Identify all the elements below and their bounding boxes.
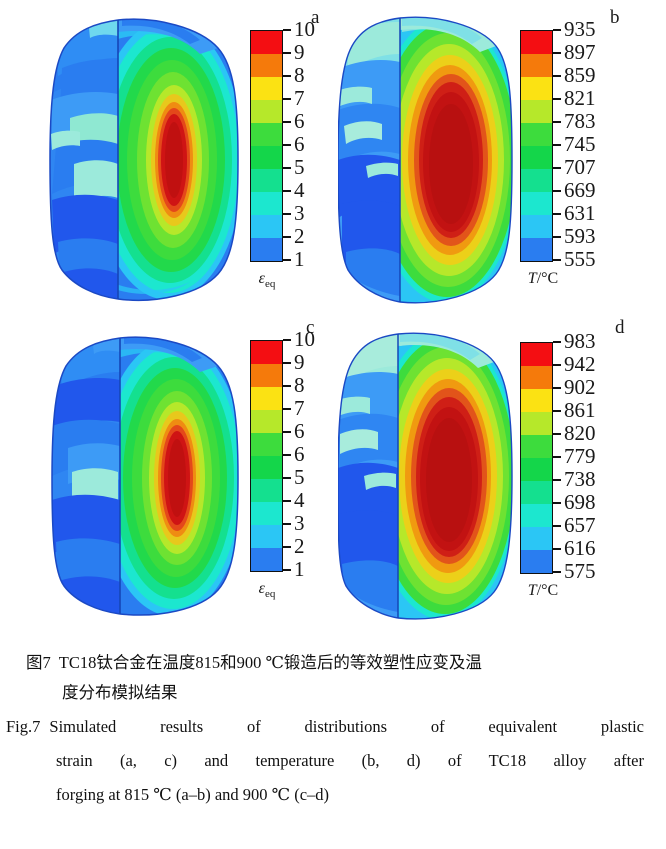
- tick-mark-icon: [283, 121, 291, 123]
- colorbar-c-tick-label-10: 1: [294, 559, 305, 580]
- tick-mark-icon: [553, 502, 561, 504]
- colorbar-a-tick-label-1: 9: [294, 42, 305, 63]
- colorbar-c-band-8: [251, 502, 282, 525]
- caption-chinese-line-1: 图7 TC18钛合金在温度815和900 ℃锻造后的等效塑性应变及温: [0, 648, 666, 678]
- tick-mark-icon: [283, 523, 291, 525]
- colorbar-d-tick-label-2: 902: [564, 377, 596, 398]
- panel-letter-c: c: [306, 318, 314, 337]
- colorbar-d-tick-label-10: 575: [564, 561, 596, 582]
- colorbar-b-band-3: [521, 77, 552, 100]
- colorbar-d-band-6: [521, 458, 552, 481]
- colorbar-b-tick-label-10: 555: [564, 249, 596, 270]
- tick-mark-icon: [283, 144, 291, 146]
- panel-a: 109876654321 εeq a: [0, 0, 330, 318]
- colorbar-b-tick-label-7: 669: [564, 180, 596, 201]
- billet-render-d: [338, 330, 513, 622]
- colorbar-b-title: T/°C: [514, 270, 572, 288]
- tick-mark-icon: [553, 364, 561, 366]
- tick-mark-icon: [283, 236, 291, 238]
- colorbar-b-band-2: [521, 54, 552, 77]
- colorbar-c-tick-label-5: 6: [294, 444, 305, 465]
- colorbar-c-band-1: [251, 341, 282, 364]
- colorbar-d-tick-label-9: 616: [564, 538, 596, 559]
- billet-render-a: [48, 14, 243, 306]
- tick-mark-icon: [283, 454, 291, 456]
- caption-chinese-line-2: 度分布模拟结果: [0, 678, 666, 708]
- caption-cn-text-1: TC18钛合金在温度815和900 ℃锻造后的等效塑性应变及温: [59, 648, 666, 678]
- tick-mark-icon: [283, 408, 291, 410]
- colorbar-d-tick-label-0: 983: [564, 331, 596, 352]
- tick-mark-icon: [553, 167, 561, 169]
- colorbar-c-tick-label-9: 2: [294, 536, 305, 557]
- colorbar-a-band-8: [251, 192, 282, 215]
- colorbar-a-band-7: [251, 169, 282, 192]
- tick-mark-icon: [283, 500, 291, 502]
- colorbar-a-tick-label-8: 3: [294, 203, 305, 224]
- tick-mark-icon: [553, 387, 561, 389]
- colorbar-a-band-9: [251, 215, 282, 238]
- tick-mark-icon: [283, 362, 291, 364]
- caption-cn-label: 图7: [26, 648, 51, 678]
- tick-mark-icon: [553, 548, 561, 550]
- figure-panel-grid: 109876654321 εeq a: [0, 0, 666, 640]
- billet-render-b: [338, 14, 513, 306]
- panel-b: 935897859821783745707669631593555 T/°C b: [330, 0, 666, 318]
- panel-c: 109876654321 εeq c: [0, 318, 330, 636]
- colorbar-b-tick-label-8: 631: [564, 203, 596, 224]
- colorbar-d-band-9: [521, 527, 552, 550]
- colorbar-d-band-8: [521, 504, 552, 527]
- tick-mark-icon: [553, 571, 561, 573]
- tick-mark-icon: [553, 29, 561, 31]
- tick-mark-icon: [283, 213, 291, 215]
- panel-letter-a: a: [311, 8, 319, 27]
- caption-en-text-1: Simulated results of distributions of eq…: [49, 712, 644, 742]
- colorbar-d-band-10: [521, 550, 552, 573]
- colorbar-b-tick-label-2: 859: [564, 65, 596, 86]
- tick-mark-icon: [283, 546, 291, 548]
- tick-mark-icon: [553, 75, 561, 77]
- tick-mark-icon: [283, 52, 291, 54]
- colorbar-c-tick-label-4: 6: [294, 421, 305, 442]
- colorbar-a-band-3: [251, 77, 282, 100]
- tick-mark-icon: [553, 236, 561, 238]
- tick-mark-icon: [553, 121, 561, 123]
- tick-mark-icon: [553, 479, 561, 481]
- tick-mark-icon: [553, 525, 561, 527]
- colorbar-c-tick-label-2: 8: [294, 375, 305, 396]
- billet-render-c: [48, 330, 243, 622]
- caption-en-text-2: strain (a, c) and temperature (b, d) of …: [56, 746, 644, 776]
- colorbar-c-tick-label-3: 7: [294, 398, 305, 419]
- colorbar-b-tick-label-0: 935: [564, 19, 596, 40]
- panel-d: 983942902861820779738698657616575 T/°C d: [330, 318, 666, 636]
- caption-cn-text-2: 度分布模拟结果: [62, 678, 666, 708]
- colorbar-c-band-6: [251, 456, 282, 479]
- colorbar-b-tick-label-5: 745: [564, 134, 596, 155]
- colorbar-a-tick-label-5: 6: [294, 134, 305, 155]
- tick-mark-icon: [283, 431, 291, 433]
- colorbar-c-tick-label-7: 4: [294, 490, 305, 511]
- colorbar-c-tick-label-8: 3: [294, 513, 305, 534]
- colorbar-b-tick-label-3: 821: [564, 88, 596, 109]
- tick-mark-icon: [553, 213, 561, 215]
- tick-mark-icon: [283, 477, 291, 479]
- colorbar-a-tick-label-2: 8: [294, 65, 305, 86]
- tick-mark-icon: [283, 75, 291, 77]
- colorbar-a-band-6: [251, 146, 282, 169]
- tick-mark-icon: [283, 259, 291, 261]
- colorbar-d-tick-label-5: 779: [564, 446, 596, 467]
- tick-mark-icon: [283, 167, 291, 169]
- colorbar-b-tick-label-1: 897: [564, 42, 596, 63]
- colorbar-d-band-4: [521, 412, 552, 435]
- colorbar-a-band-4: [251, 100, 282, 123]
- tick-mark-icon: [553, 410, 561, 412]
- colorbar-d-tick-label-7: 698: [564, 492, 596, 513]
- tick-mark-icon: [553, 341, 561, 343]
- tick-mark-icon: [553, 433, 561, 435]
- colorbar-a-tick-label-7: 4: [294, 180, 305, 201]
- colorbar-b-band-10: [521, 238, 552, 261]
- tick-mark-icon: [553, 456, 561, 458]
- colorbar-a-tick-label-10: 1: [294, 249, 305, 270]
- colorbar-a-tick-label-4: 6: [294, 111, 305, 132]
- colorbar-b-tick-label-4: 783: [564, 111, 596, 132]
- caption-english-line-2: strain (a, c) and temperature (b, d) of …: [0, 746, 666, 776]
- colorbar-c-band-3: [251, 387, 282, 410]
- colorbar-d-title: T/°C: [514, 582, 572, 600]
- tick-mark-icon: [553, 144, 561, 146]
- caption-english-line-1: Fig.7 Simulated results of distributions…: [0, 712, 666, 742]
- colorbar-a-tick-label-9: 2: [294, 226, 305, 247]
- colorbar-c-band-7: [251, 479, 282, 502]
- colorbar-d-band-2: [521, 366, 552, 389]
- tick-mark-icon: [283, 98, 291, 100]
- colorbar-c-tick-label-6: 5: [294, 467, 305, 488]
- tick-mark-icon: [283, 29, 291, 31]
- colorbar-a-title: εeq: [238, 270, 296, 290]
- colorbar-d-band-3: [521, 389, 552, 412]
- tick-mark-icon: [283, 569, 291, 571]
- colorbar-b-band-4: [521, 100, 552, 123]
- colorbar-a-tick-label-3: 7: [294, 88, 305, 109]
- colorbar-b-band-6: [521, 146, 552, 169]
- colorbar-c-band-2: [251, 364, 282, 387]
- colorbar-a-band-10: [251, 238, 282, 261]
- tick-mark-icon: [283, 385, 291, 387]
- colorbar-b-band-9: [521, 215, 552, 238]
- caption-english-line-3: forging at 815 ℃ (a–b) and 900 ℃ (c–d): [0, 780, 666, 810]
- colorbar-c-band-10: [251, 548, 282, 571]
- colorbar-b-band-7: [521, 169, 552, 192]
- colorbar-b-band-5: [521, 123, 552, 146]
- panel-letter-b: b: [610, 8, 620, 27]
- tick-mark-icon: [553, 190, 561, 192]
- colorbar-b-band-8: [521, 192, 552, 215]
- colorbar-a-band-2: [251, 54, 282, 77]
- colorbar-a-band-5: [251, 123, 282, 146]
- colorbar-b-tick-label-9: 593: [564, 226, 596, 247]
- colorbar-d-tick-label-8: 657: [564, 515, 596, 536]
- tick-mark-icon: [553, 98, 561, 100]
- caption-en-label: Fig.7: [6, 712, 40, 742]
- colorbar-c-band-5: [251, 433, 282, 456]
- tick-mark-icon: [283, 190, 291, 192]
- colorbar-d-tick-label-3: 861: [564, 400, 596, 421]
- colorbar-a-tick-label-6: 5: [294, 157, 305, 178]
- colorbar-c-band-4: [251, 410, 282, 433]
- colorbar-d-band-1: [521, 343, 552, 366]
- figure-caption: 图7 TC18钛合金在温度815和900 ℃锻造后的等效塑性应变及温 度分布模拟…: [0, 648, 666, 810]
- colorbar-b-band-1: [521, 31, 552, 54]
- colorbar-d-tick-label-6: 738: [564, 469, 596, 490]
- colorbar-c-tick-label-1: 9: [294, 352, 305, 373]
- tick-mark-icon: [553, 52, 561, 54]
- colorbar-b-tick-label-6: 707: [564, 157, 596, 178]
- colorbar-c-band-9: [251, 525, 282, 548]
- caption-en-text-3: forging at 815 ℃ (a–b) and 900 ℃ (c–d): [56, 780, 644, 810]
- tick-mark-icon: [553, 259, 561, 261]
- tick-mark-icon: [283, 339, 291, 341]
- colorbar-d-tick-label-1: 942: [564, 354, 596, 375]
- panel-letter-d: d: [615, 318, 625, 337]
- colorbar-c-title: εeq: [238, 580, 296, 600]
- colorbar-d-band-7: [521, 481, 552, 504]
- colorbar-d-tick-label-4: 820: [564, 423, 596, 444]
- colorbar-a-band-1: [251, 31, 282, 54]
- colorbar-d-band-5: [521, 435, 552, 458]
